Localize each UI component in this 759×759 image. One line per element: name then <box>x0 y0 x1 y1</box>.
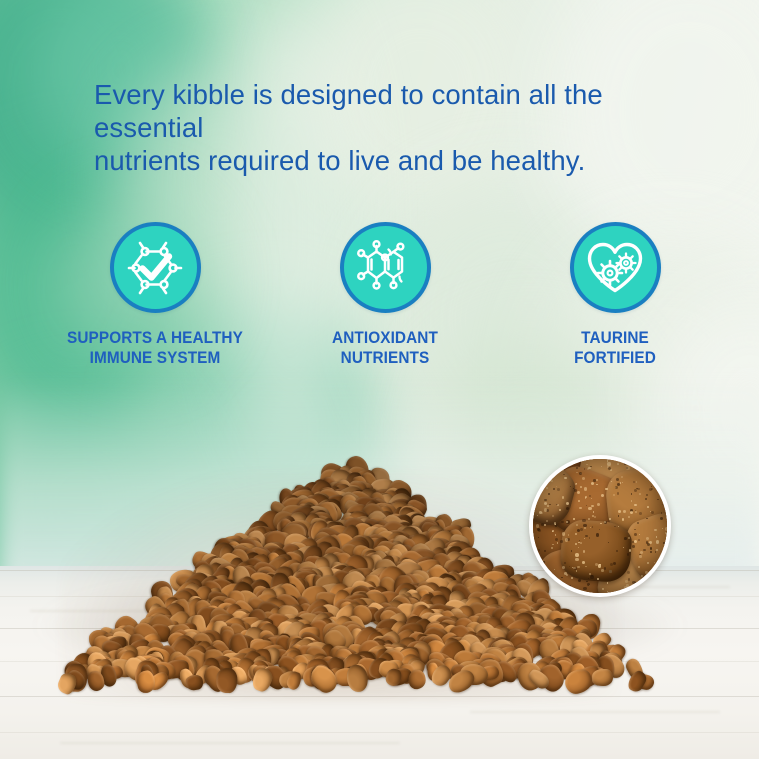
texture-speck <box>544 478 547 481</box>
benefit-label-line-1: SUPPORTS A HEALTHY <box>67 329 243 347</box>
benefit-label-line-2: IMMUNE SYSTEM <box>48 349 262 369</box>
texture-speck <box>536 572 539 575</box>
kibble-closeup-inset <box>529 455 671 597</box>
texture-speck <box>536 488 537 489</box>
kibble-piece <box>216 667 237 693</box>
texture-speck <box>541 586 542 587</box>
benefit-label-line-1: TAURINE <box>581 329 649 347</box>
benefit-badge <box>110 222 201 313</box>
benefit-badge <box>570 222 661 313</box>
gear-small <box>617 253 636 272</box>
headline-line-2: nutrients required to live and be health… <box>94 144 704 177</box>
texture-speck <box>631 459 634 462</box>
benefit-label-line-2: FORTIFIED <box>508 349 722 369</box>
benefit-label-line-1: ANTIOXIDANT <box>332 329 438 347</box>
texture-speck <box>630 462 631 463</box>
page-title: Every kibble is designed to contain all … <box>94 78 704 177</box>
texture-speck <box>668 541 670 543</box>
headline-line-1: Every kibble is designed to contain all … <box>94 78 704 144</box>
benefit-label-line-2: NUTRIENTS <box>278 349 492 369</box>
texture-speck <box>653 579 656 582</box>
texture-speck <box>547 582 550 585</box>
benefit-label: ANTIOXIDANT NUTRIENTS <box>278 329 492 368</box>
benefit-badge <box>340 222 431 313</box>
texture-speck <box>547 576 551 580</box>
texture-speck <box>665 556 667 558</box>
gear-large <box>598 261 622 285</box>
benefit-item-taurine: TAURINE FORTIFIED <box>500 222 730 368</box>
texture-speck <box>549 590 551 592</box>
molecule-checkmark-icon <box>124 237 186 299</box>
texture-speck <box>657 482 660 485</box>
texture-speck <box>661 561 663 563</box>
kibble-closeup-content <box>533 459 667 593</box>
texture-speck <box>536 564 537 565</box>
benefits-row: SUPPORTS A HEALTHY IMMUNE SYSTEM <box>0 222 759 402</box>
promo-image: Every kibble is designed to contain all … <box>0 0 759 759</box>
heart-gears-icon <box>583 238 647 298</box>
texture-speck <box>537 474 539 476</box>
antioxidant-molecule-icon <box>355 238 415 298</box>
benefit-item-immune: SUPPORTS A HEALTHY IMMUNE SYSTEM <box>40 222 270 368</box>
texture-speck <box>534 581 536 583</box>
kibble-piece <box>592 669 613 686</box>
benefit-label: SUPPORTS A HEALTHY IMMUNE SYSTEM <box>48 329 262 368</box>
texture-speck <box>658 575 661 578</box>
benefit-label: TAURINE FORTIFIED <box>508 329 722 368</box>
benefit-item-antioxidant: ANTIOXIDANT NUTRIENTS <box>270 222 500 368</box>
texture-speck <box>536 470 537 471</box>
